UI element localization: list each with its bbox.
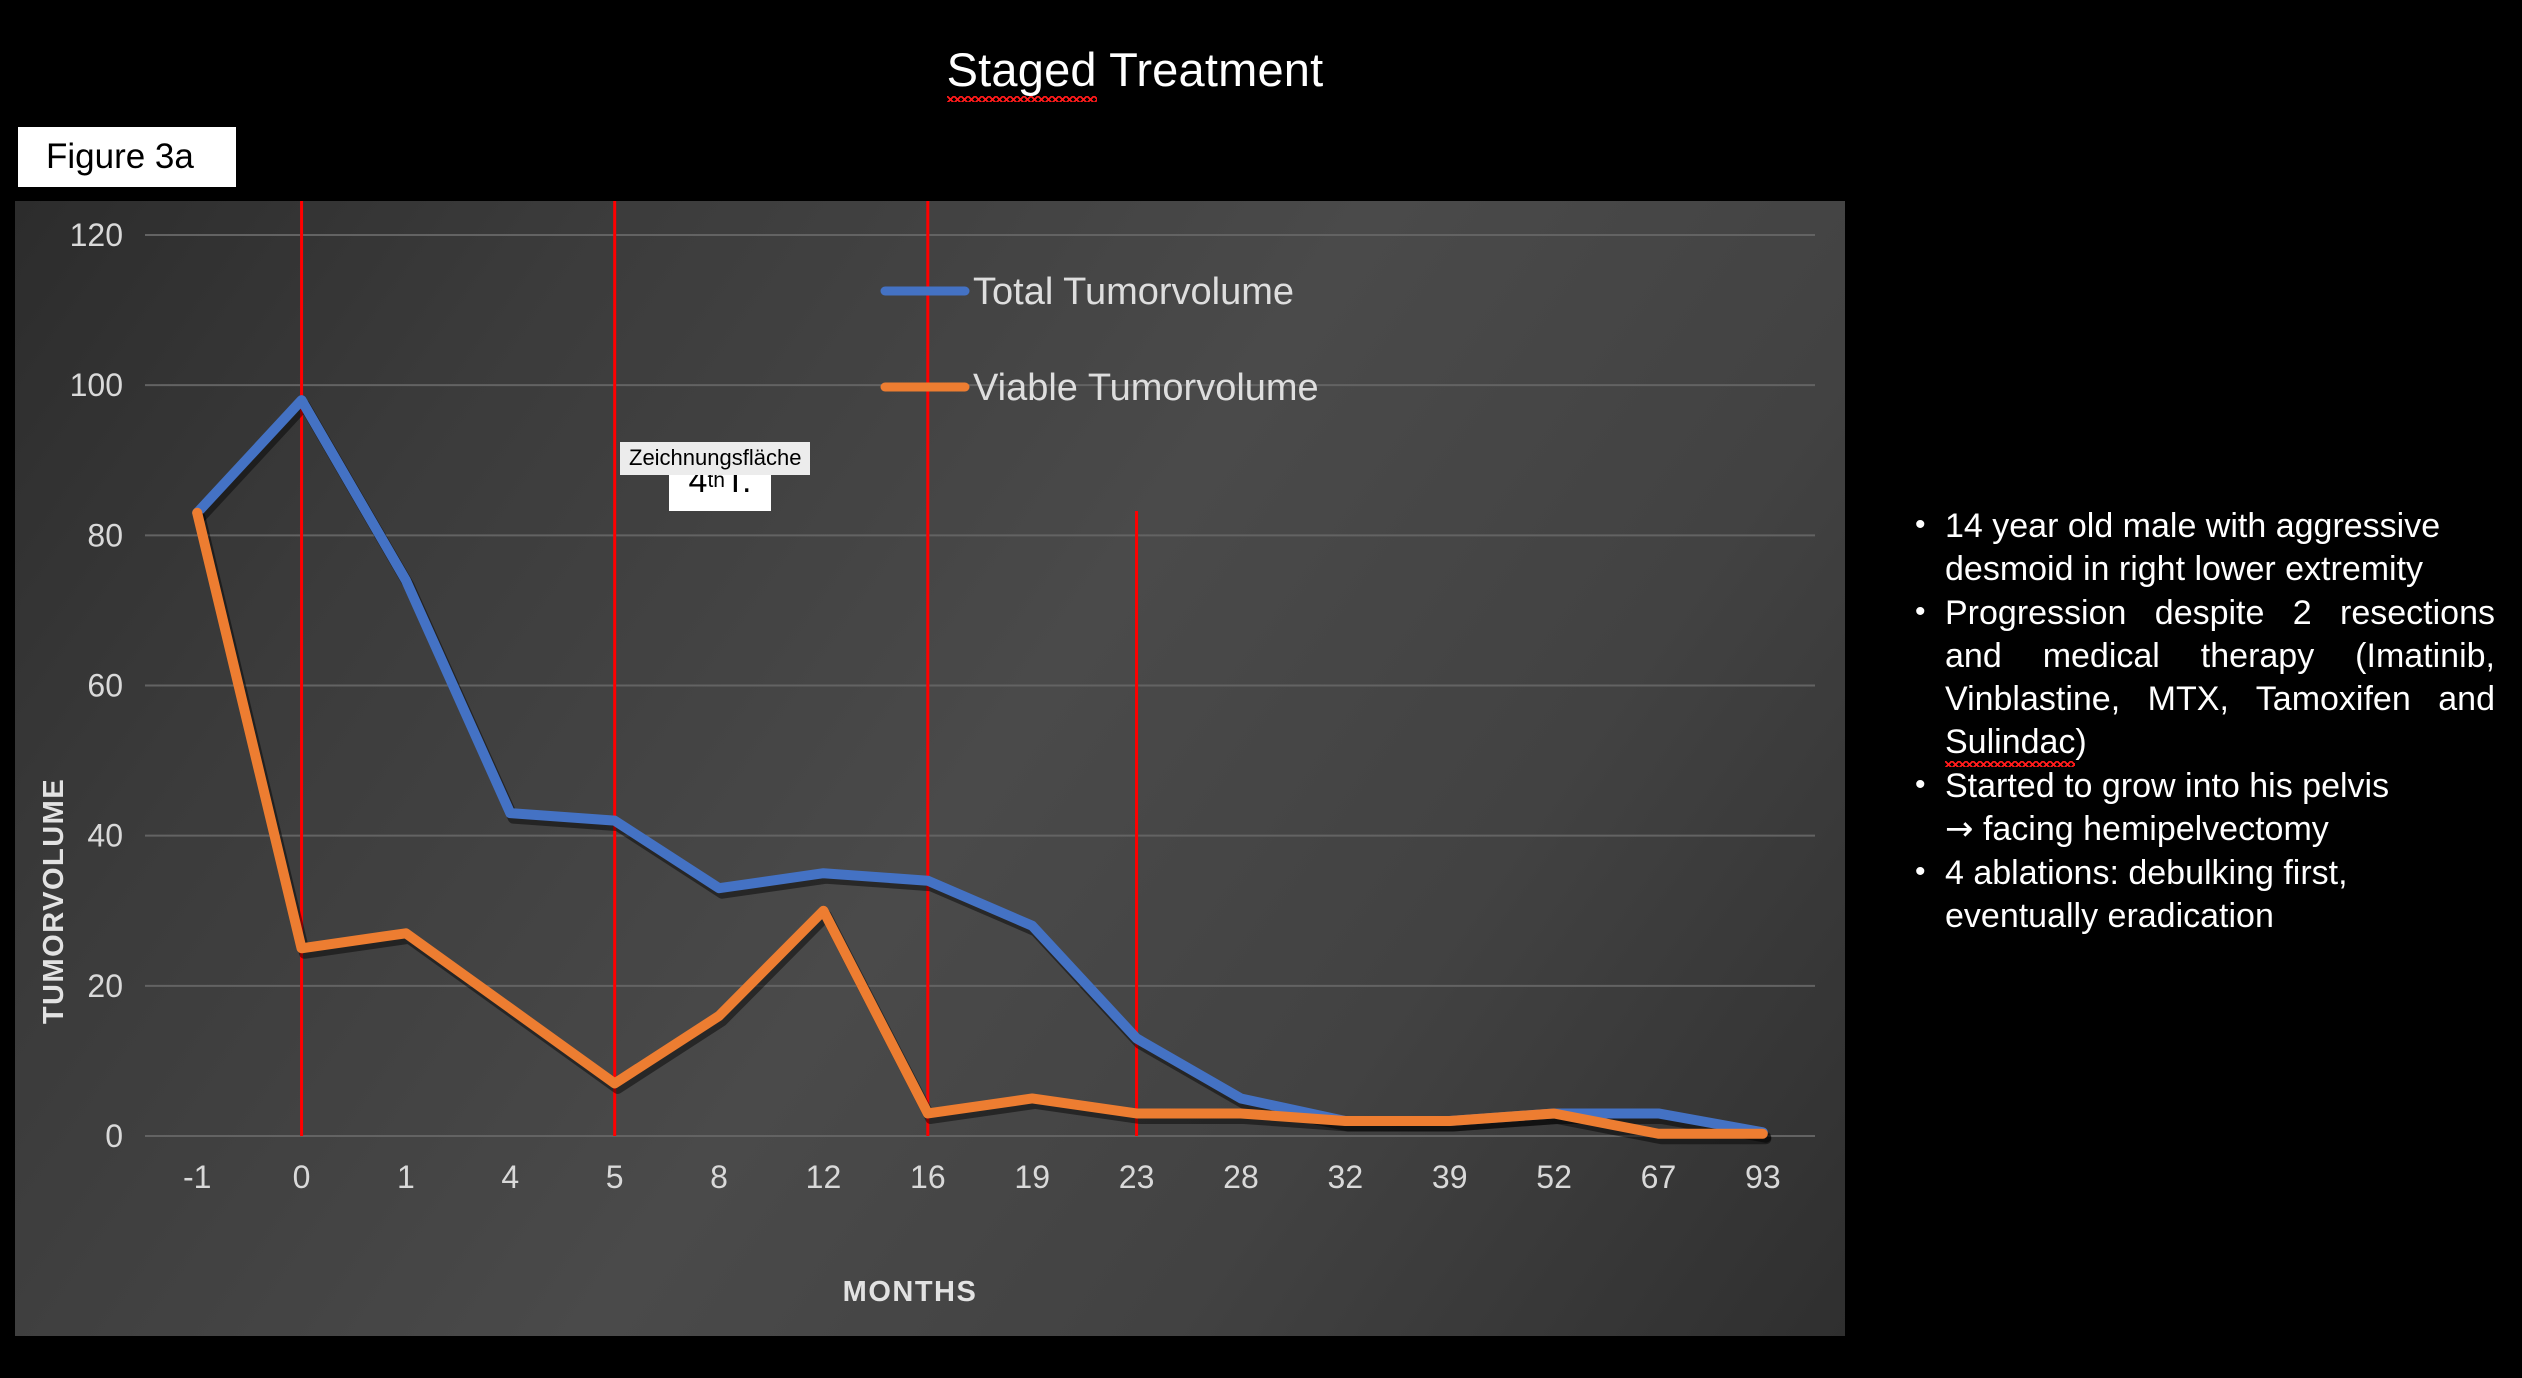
y-axis-tick-label: 120	[70, 217, 123, 253]
slide-title-rest: Treatment	[1097, 43, 1324, 96]
x-axis-tick-label: 23	[1119, 1159, 1155, 1195]
x-axis-tick-label: 19	[1014, 1159, 1050, 1195]
plot-area-tooltip: Zeichnungsfläche	[620, 442, 810, 475]
right-arrow-icon: →	[1945, 809, 1974, 849]
list-item-text-tail: )	[2075, 723, 2086, 761]
legend-label[interactable]: Viable Tumorvolume	[973, 367, 1319, 409]
series-line-shadow	[200, 405, 1766, 1137]
x-axis-tick-label: 32	[1328, 1159, 1364, 1195]
series-line	[197, 513, 1763, 1134]
x-axis-title: MONTHS	[843, 1276, 978, 1308]
series-line-shadow	[200, 518, 1766, 1139]
x-axis-tick-label: 52	[1536, 1159, 1572, 1195]
figure-label: Figure 3a	[18, 127, 236, 187]
series-line	[197, 400, 1763, 1132]
x-axis-tick-label: 1	[397, 1159, 415, 1195]
list-item: • Started to grow into his pelvis→ facin…	[1915, 765, 2495, 851]
bullet-icon: •	[1915, 765, 1945, 806]
list-item-text: Started to grow into his pelvis→ facing …	[1945, 765, 2495, 851]
chart-legend[interactable]: Total TumorvolumeViable Tumorvolume	[885, 271, 1319, 409]
x-axis-tick-label: 5	[606, 1159, 624, 1195]
y-axis-tick-labels: 020406080100120	[70, 217, 123, 1154]
x-axis-tick-labels: -10145812161923283239526793	[183, 1159, 1781, 1195]
y-axis-tick-label: 0	[105, 1118, 123, 1154]
list-item-text-main: Started to grow into his pelvis	[1945, 767, 2389, 805]
slide-title: Staged Treatment	[0, 42, 2270, 97]
legend-label[interactable]: Total Tumorvolume	[973, 271, 1294, 313]
x-axis-tick-label: 4	[501, 1159, 519, 1195]
bullet-icon: •	[1915, 505, 1945, 546]
y-axis-tick-label: 100	[70, 367, 123, 403]
slide-title-misspelled-word: Staged	[947, 42, 1097, 97]
list-item: • 14 year old male with aggressive desmo…	[1915, 505, 2495, 591]
list-item-text-second-line: facing hemipelvectomy	[1974, 810, 2329, 848]
y-axis-tick-label: 60	[87, 668, 123, 704]
case-description-list: • 14 year old male with aggressive desmo…	[1915, 505, 2495, 939]
x-axis-tick-label: 28	[1223, 1159, 1259, 1195]
y-axis-tick-label: 20	[87, 968, 123, 1004]
misspelled-word-sulindac: Sulindac	[1945, 721, 2075, 764]
line-chart[interactable]: 020406080100120 -10145812161923283239526…	[15, 201, 1845, 1336]
x-axis-tick-label: 0	[293, 1159, 311, 1195]
list-item: • Progression despite 2 resections and m…	[1915, 592, 2495, 764]
list-item-text: 4 ablations: debulking first, eventually…	[1945, 852, 2495, 938]
x-axis-tick-label: 93	[1745, 1159, 1781, 1195]
bullet-icon: •	[1915, 852, 1945, 893]
chart-panel[interactable]: 020406080100120 -10145812161923283239526…	[15, 201, 1845, 1336]
list-item-text: Progression despite 2 resections and med…	[1945, 592, 2495, 764]
y-axis-tick-label: 40	[87, 818, 123, 854]
y-axis-title: TUMORVOLUME	[38, 778, 70, 1024]
x-axis-tick-label: -1	[183, 1159, 211, 1195]
x-axis-tick-label: 16	[910, 1159, 946, 1195]
bullet-icon: •	[1915, 592, 1945, 633]
list-item-text: 14 year old male with aggressive desmoid…	[1945, 505, 2495, 591]
x-axis-tick-label: 39	[1432, 1159, 1468, 1195]
x-axis-tick-label: 8	[710, 1159, 728, 1195]
y-axis-tick-label: 80	[87, 517, 123, 553]
x-axis-tick-label: 12	[806, 1159, 842, 1195]
x-axis-tick-label: 67	[1641, 1159, 1677, 1195]
treatment-marker-lines	[302, 201, 1137, 1136]
data-series-lines	[197, 400, 1766, 1139]
list-item-text-main: Progression despite 2 resections and med…	[1945, 594, 2495, 718]
list-item: • 4 ablations: debulking first, eventual…	[1915, 852, 2495, 938]
